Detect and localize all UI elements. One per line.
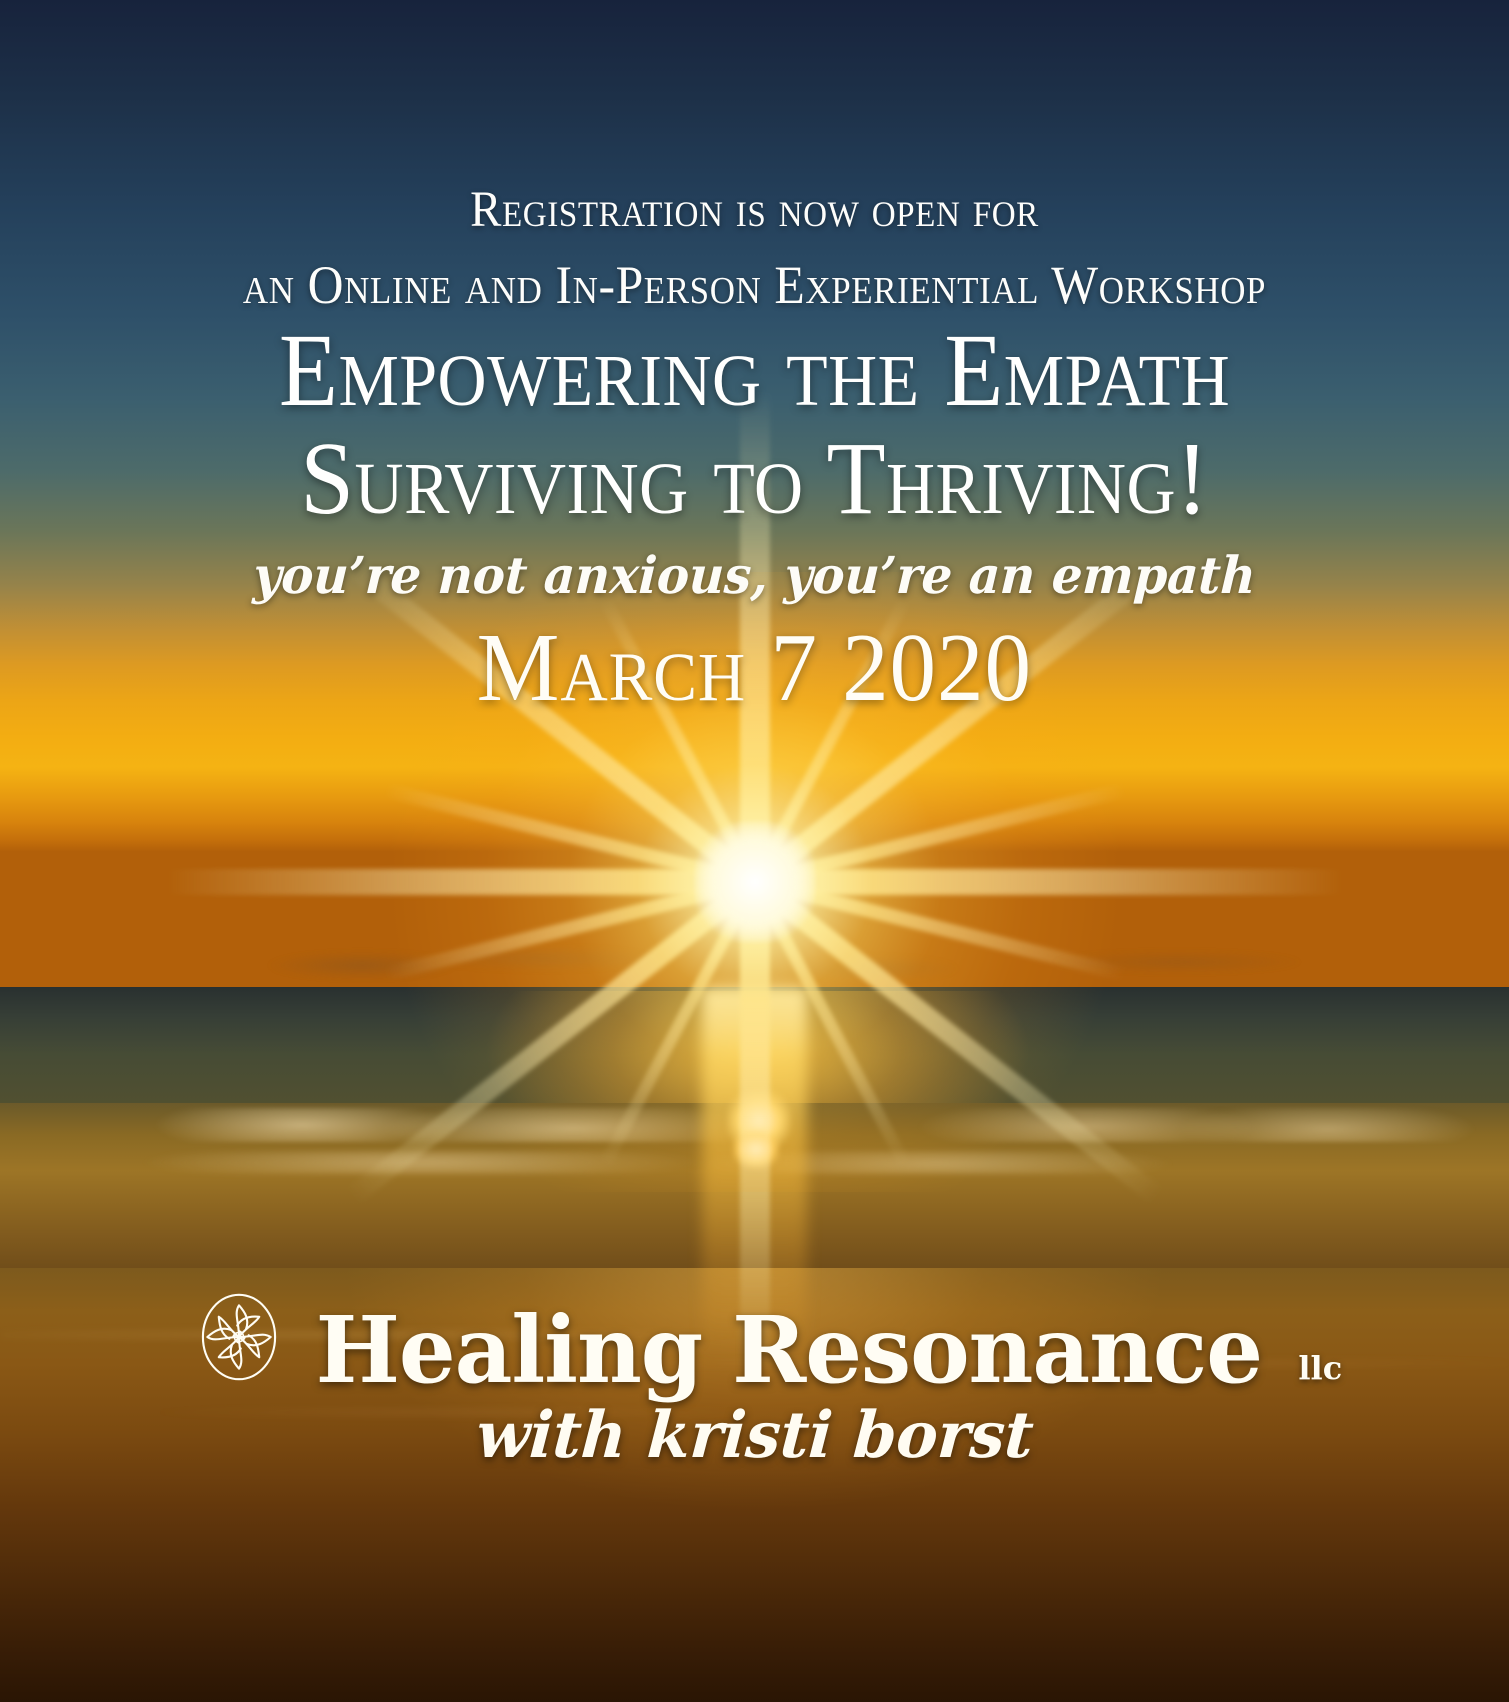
subtitle-block: you’re not anxious, you’re an empath xyxy=(0,546,1509,606)
kicker-line-1: Registration is now open for xyxy=(60,185,1448,236)
title-line-1: Empowering the Empath xyxy=(53,320,1456,422)
kicker-line-2: an Online and In-Person Experiential Wor… xyxy=(60,258,1448,312)
poster-text-content: Registration is now open for an Online a… xyxy=(0,0,1509,1702)
event-date: March 7 2020 xyxy=(477,612,1032,724)
brand-lockup: Healing Resonance llc with kristi borst xyxy=(0,1288,1509,1473)
brand-suffix: llc xyxy=(1298,1349,1342,1387)
mandala-pinwheel-icon xyxy=(195,1288,283,1386)
kicker-block: Registration is now open for an Online a… xyxy=(0,185,1509,312)
poster-canvas: Registration is now open for an Online a… xyxy=(0,0,1509,1702)
brand-tagline: with kristi borst xyxy=(474,1398,1036,1473)
title-line-2: Surviving to Thriving! xyxy=(53,428,1456,530)
brand-name: Healing Resonance xyxy=(315,1304,1261,1396)
brand-name-row: Healing Resonance llc xyxy=(195,1288,1342,1396)
title-block: Empowering the Empath Surviving to Thriv… xyxy=(0,320,1509,530)
event-date-block: March 7 2020 xyxy=(0,612,1509,724)
subtitle-text: you’re not anxious, you’re an empath xyxy=(252,546,1257,606)
